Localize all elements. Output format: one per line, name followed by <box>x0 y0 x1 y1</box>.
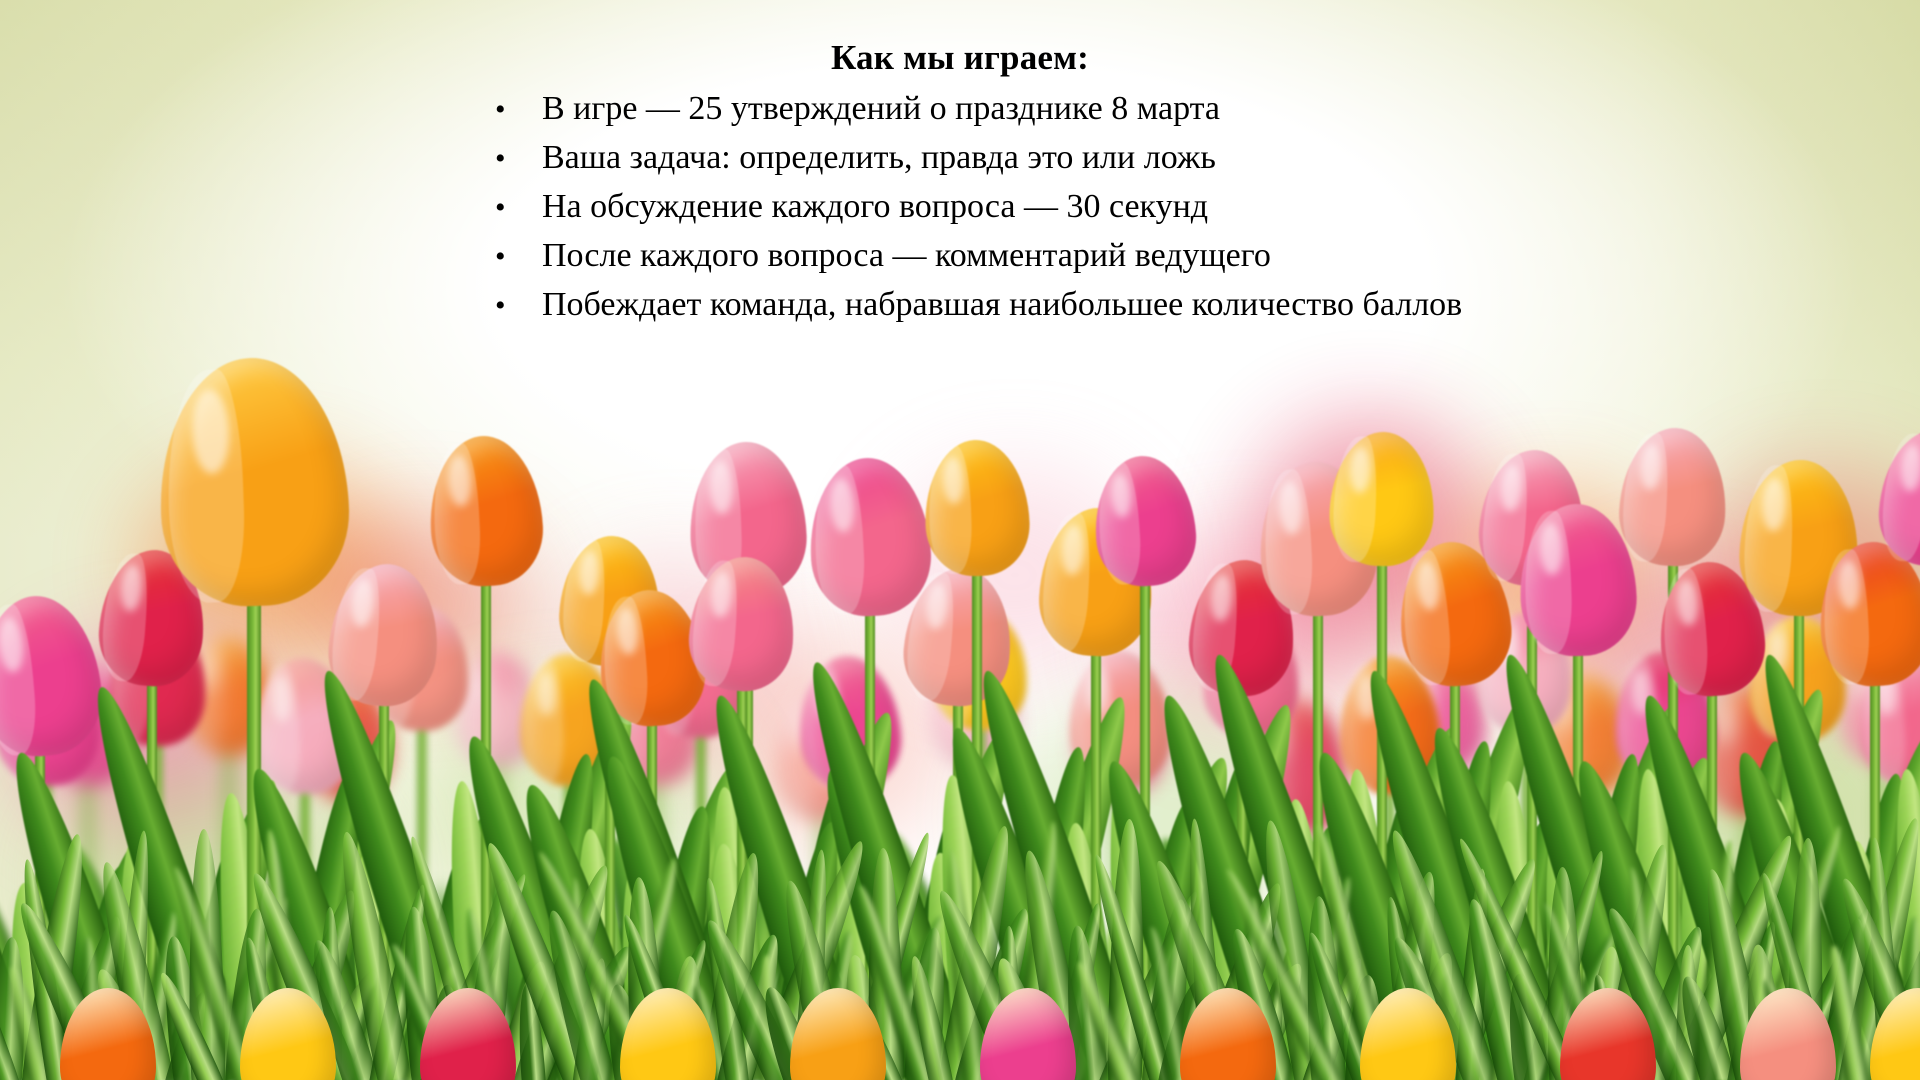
list-item: • Побеждает команда, набравшая наибольше… <box>0 280 1920 329</box>
tulip-bloom <box>426 433 546 589</box>
bullet-icon: • <box>495 281 542 330</box>
list-item-label: Ваша задача: определить, правда это или … <box>542 133 1216 182</box>
page-title: Как мы играем: <box>0 38 1920 78</box>
tulip-bloom <box>0 591 107 761</box>
list-item-label: После каждого вопроса — комментарий веду… <box>542 231 1271 280</box>
tulip-bloom <box>923 438 1032 578</box>
bullet-icon: • <box>495 134 542 183</box>
bullet-icon: • <box>495 232 542 281</box>
grass-fringe <box>0 780 1920 1080</box>
list-item-label: Побеждает команда, набравшая наибольшее … <box>542 280 1462 329</box>
tulip-bloom <box>1091 453 1200 590</box>
list-item: • Ваша задача: определить, правда это ил… <box>0 133 1920 182</box>
list-item-label: На обсуждение каждого вопроса — 30 секун… <box>542 182 1208 231</box>
list-item-label: В игре — 25 утверждений о празднике 8 ма… <box>542 84 1220 133</box>
bullet-icon: • <box>495 183 542 232</box>
tulip-bloom <box>156 355 353 609</box>
tulip-bloom <box>685 554 798 695</box>
list-item: • В игре — 25 утверждений о празднике 8 … <box>0 84 1920 133</box>
list-item: • На обсуждение каждого вопроса — 30 сек… <box>0 182 1920 231</box>
bullet-icon: • <box>495 85 542 134</box>
text-content-panel: Как мы играем: • В игре — 25 утверждений… <box>0 0 1920 329</box>
slide-canvas: Как мы играем: • В игре — 25 утверждений… <box>0 0 1920 1080</box>
list-item: • После каждого вопроса — комментарий ве… <box>0 231 1920 280</box>
tulip-bloom <box>1616 425 1729 568</box>
bullet-list: • В игре — 25 утверждений о празднике 8 … <box>0 84 1920 329</box>
tulip-bloom <box>1875 427 1920 570</box>
